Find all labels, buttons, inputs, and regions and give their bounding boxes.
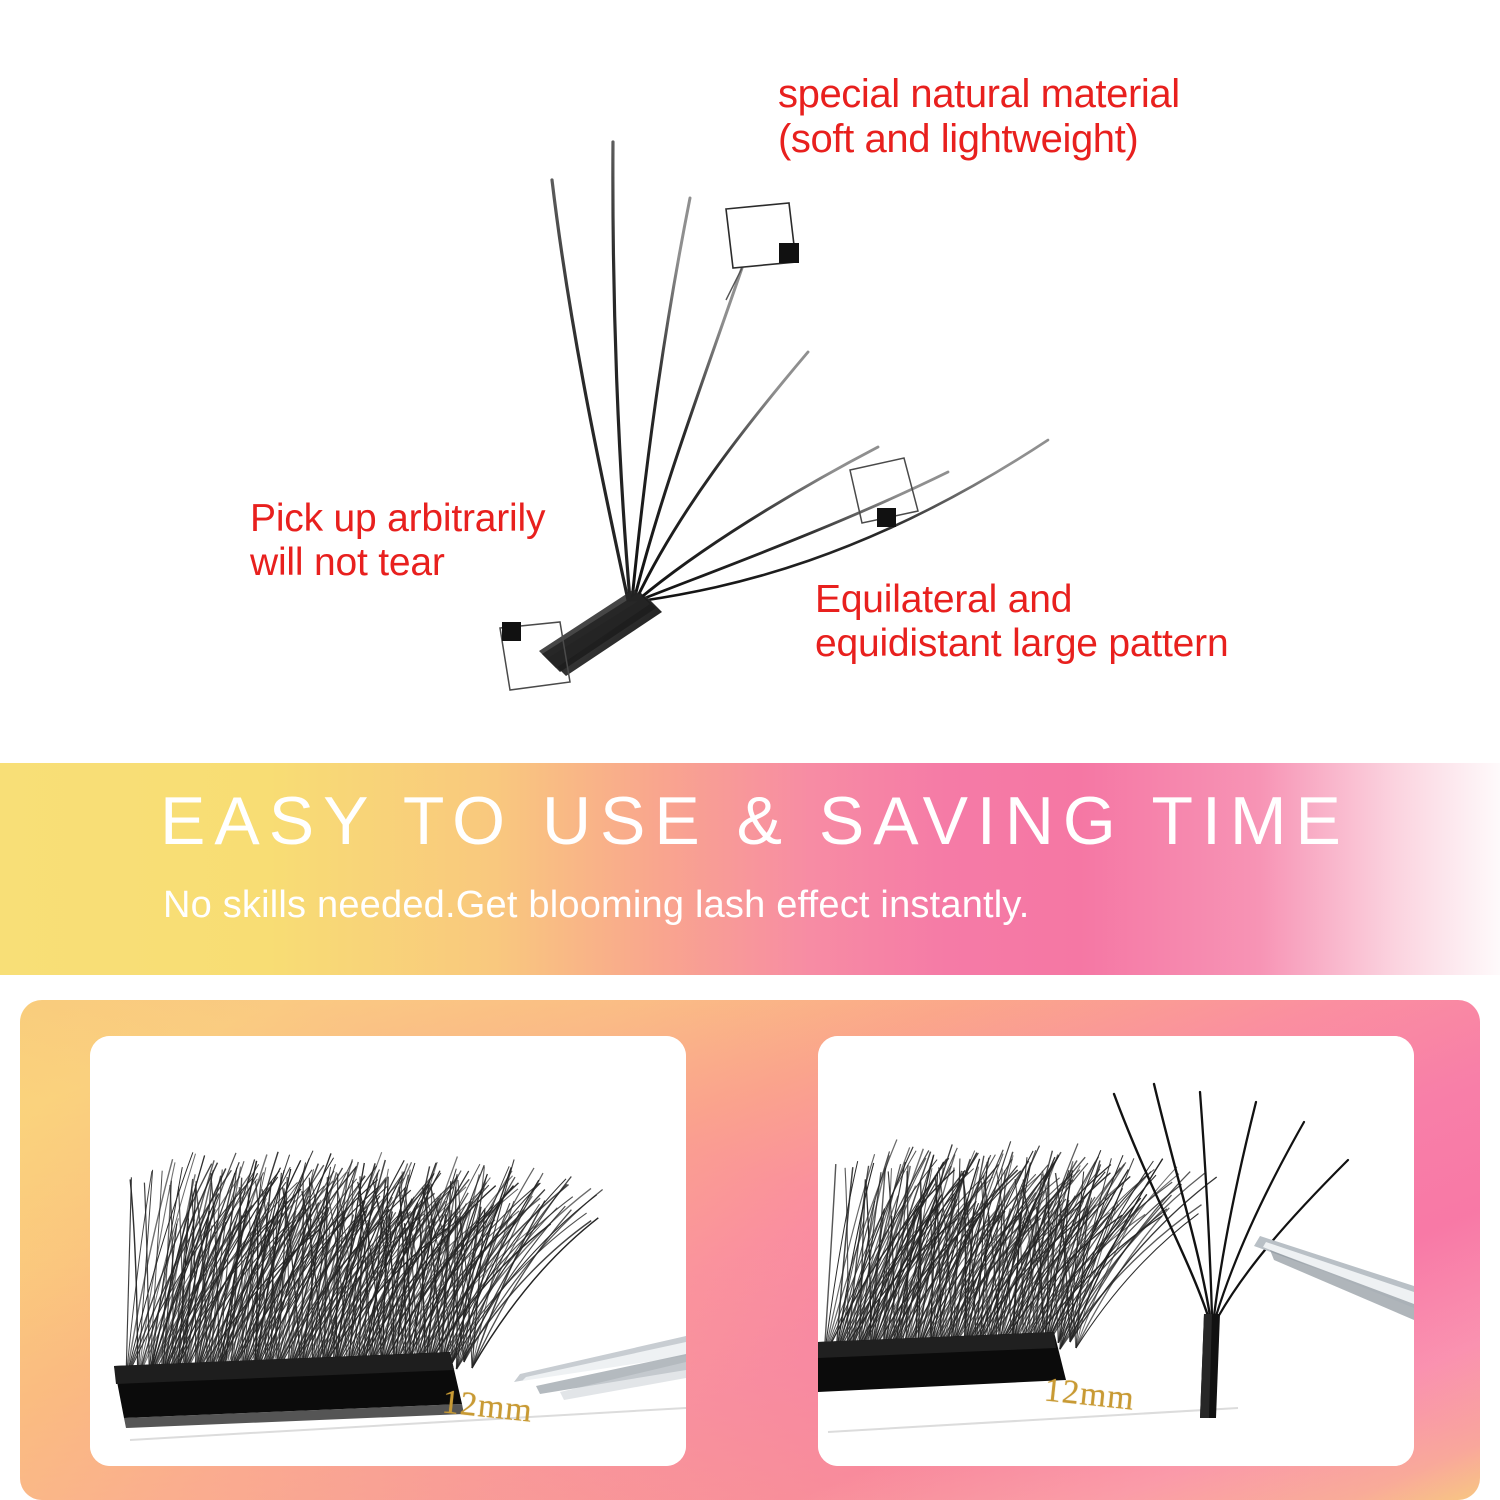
lash-tray-photo <box>90 1036 686 1466</box>
lash-fan-base <box>539 589 662 676</box>
promo-subline: No skills needed.Get blooming lash effec… <box>163 886 1030 924</box>
callout-equilateral: Equilateral and equidistant large patter… <box>815 578 1228 665</box>
promo-headline: EASY TO USE & SAVING TIME <box>160 787 1350 855</box>
callout-special-material: special natural material (soft and light… <box>778 72 1180 162</box>
lash-fan-diagram <box>0 0 1500 763</box>
photo-card-lash-tray-tweezer: 12mm <box>90 1036 686 1466</box>
lash-strands <box>552 142 1048 601</box>
photo-panel: 12mm <box>20 1000 1480 1500</box>
promo-banner: EASY TO USE & SAVING TIME No skills need… <box>0 763 1500 975</box>
callout-pick-up: Pick up arbitrarily will not tear <box>250 497 545 584</box>
photo-card-lash-fan-pickup: 12mm <box>818 1036 1414 1466</box>
hero-section: special natural material (soft and light… <box>0 0 1500 763</box>
